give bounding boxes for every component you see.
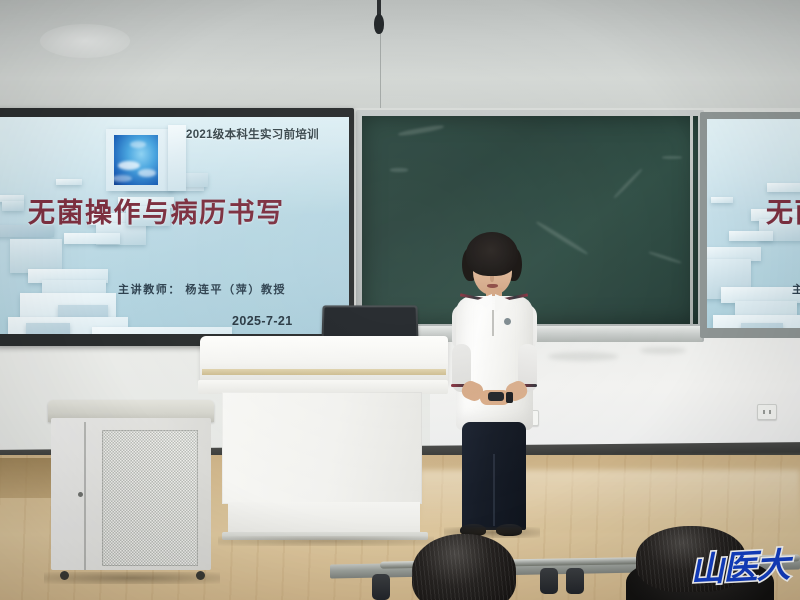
podium-front-panel (222, 392, 422, 504)
ceiling (0, 0, 800, 112)
student-head (412, 534, 516, 600)
lecturer (440, 232, 548, 532)
cabinet-door-seam (84, 422, 86, 570)
wristwatch (506, 392, 513, 403)
slide-title-text-right: 无菌 (766, 191, 800, 230)
podium-base (228, 502, 420, 536)
presentation-clicker[interactable] (488, 392, 504, 401)
slide-presenter-text-right: 主 (792, 281, 800, 297)
ceiling-mounted-sensor-icon (374, 0, 384, 36)
slide-date-text: 2025-7-21 (232, 314, 293, 328)
wall-smudge (640, 347, 686, 354)
watermark-logo: 山医大 (689, 537, 790, 591)
equipment-cabinet (48, 400, 214, 578)
chalkboard-panel-divider (690, 116, 693, 324)
classroom-photo-scene: 2021级本科生实习前培训 无菌操作与病历书写 主讲教师： 杨连平（萍）教授 2… (0, 0, 800, 600)
ceiling-light-sheen (40, 24, 130, 58)
hair (466, 232, 518, 276)
slide-header-text: 2021级本科生实习前培训 (186, 126, 319, 142)
lecture-podium (200, 336, 448, 536)
slide-sky-image (114, 135, 158, 185)
wall-power-outlet[interactable] (757, 404, 777, 420)
shirt-logo (504, 318, 511, 325)
cabinet-door-knob[interactable] (78, 492, 83, 497)
shirt-placket (492, 310, 494, 336)
chair-back (372, 574, 390, 600)
podium-top-surface (200, 336, 448, 384)
cabinet-floor-shadow (44, 572, 220, 584)
podium-floor-shadow (218, 536, 434, 546)
cabinet-vent-mesh (102, 430, 198, 566)
chair-back (540, 568, 558, 594)
slide-presenter-text: 主讲教师： 杨连平（萍）教授 (118, 281, 286, 297)
wall-smudge (548, 352, 618, 361)
chair-back (566, 568, 584, 594)
slide-title-text: 无菌操作与病历书写 (28, 191, 285, 230)
trouser-seam (493, 454, 495, 526)
podium-accent-stripe (202, 369, 446, 375)
